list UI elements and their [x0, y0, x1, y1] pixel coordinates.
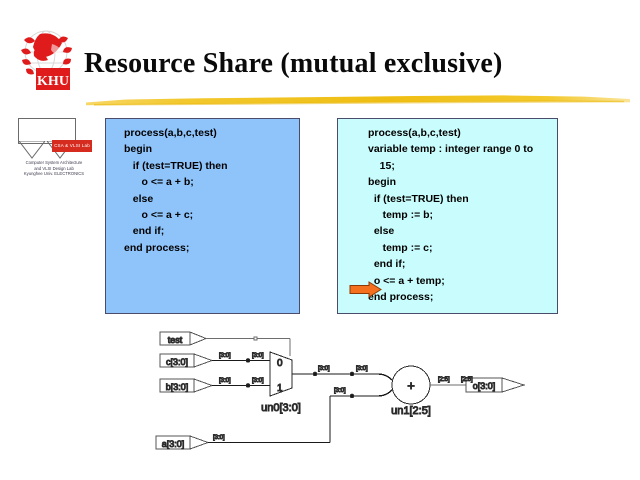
- highlight-arrow: [349, 281, 382, 298]
- code-line: end process;: [124, 240, 228, 256]
- rtl-schematic: test c[3:0] [3:0] [3:0]: [0, 326, 640, 466]
- schematic-mux-port-1: 1: [277, 383, 283, 394]
- code-line: else: [124, 191, 228, 207]
- code-line: if (test=TRUE) then: [124, 158, 228, 174]
- code-line: temp := c;: [368, 240, 533, 256]
- lab-watermark-logo: CSA & VLSI Lab Computer System Architect…: [14, 118, 94, 180]
- code-line: o <= a + c;: [124, 207, 228, 223]
- code-line: 15;: [368, 158, 533, 174]
- khu-logo: KHU: [16, 26, 82, 94]
- code-right-lines: process(a,b,c,test) variable temp : inte…: [368, 125, 533, 305]
- code-block-left: process(a,b,c,test) begin if (test=TRUE)…: [105, 118, 300, 314]
- schematic-label-c: c[3:0]: [166, 357, 188, 367]
- code-line: process(a,b,c,test): [368, 125, 533, 141]
- code-line: else: [368, 223, 533, 239]
- schematic-bus-mux-a: [3:0]: [318, 366, 330, 372]
- code-line: o <= a + b;: [124, 174, 228, 190]
- code-left-lines: process(a,b,c,test) begin if (test=TRUE)…: [124, 125, 228, 256]
- page-title: Resource Share (mutual exclusive): [84, 48, 632, 80]
- code-line: end if;: [368, 256, 533, 272]
- schematic-label-a: a[3:0]: [162, 439, 185, 449]
- schematic-bus-c-a: [3:0]: [219, 353, 231, 359]
- schematic-adder-name: un1[2:5]: [391, 405, 431, 417]
- schematic-pin-a: [156, 390, 392, 449]
- schematic-mux-name: un0[3:0]: [261, 402, 301, 414]
- watermark-caption-line-3: Kyunghee Univ. ELECTRONICS: [14, 171, 94, 177]
- title-underline-rule: [84, 93, 632, 107]
- right-arrow-icon: [349, 281, 382, 298]
- watermark-caption: Computer System Architecture and VLSI De…: [14, 160, 94, 177]
- code-line: end if;: [124, 223, 228, 239]
- schematic-bus-mux-b: [3:0]: [356, 366, 368, 372]
- khu-logo-text: KHU: [37, 74, 69, 89]
- schematic-bus-a-out: [3:0]: [213, 435, 225, 441]
- schematic-net-mux-out: [292, 372, 392, 380]
- code-line: begin: [124, 141, 228, 157]
- watermark-caption-line-1: Computer System Architecture: [14, 160, 94, 166]
- code-line: process(a,b,c,test): [124, 125, 228, 141]
- schematic-bus-b-b: [3:0]: [252, 378, 264, 384]
- code-line: end process;: [368, 289, 533, 305]
- code-line: if (test=TRUE) then: [368, 191, 533, 207]
- slide-canvas: KHU Resource Share (mutual exclusive): [0, 0, 640, 480]
- schematic-bus-b-a: [3:0]: [219, 378, 231, 384]
- schematic-bus-lower: [3:0]: [334, 388, 346, 394]
- schematic-bus-c-b: [3:0]: [252, 353, 264, 359]
- khu-logo-icon: KHU: [16, 26, 82, 94]
- schematic-svg: test c[3:0] [3:0] [3:0]: [0, 326, 640, 466]
- code-line-highlighted: o <= a + temp;: [368, 273, 533, 289]
- schematic-bus-sum-b: [2:5]: [461, 377, 473, 383]
- schematic-label-b: b[3:0]: [166, 382, 189, 392]
- schematic-bus-sum-a: [2:5]: [438, 377, 450, 383]
- brush-stroke-icon: [84, 93, 632, 107]
- watermark-badge: CSA & VLSI Lab: [52, 140, 92, 152]
- schematic-mux-port-0: 0: [277, 358, 283, 369]
- code-line: variable temp : integer range 0 to: [368, 141, 533, 157]
- schematic-label-o: o[3:0]: [473, 381, 496, 391]
- code-line: begin: [368, 174, 533, 190]
- code-line: temp := b;: [368, 207, 533, 223]
- schematic-label-test: test: [168, 335, 183, 345]
- schematic-adder-symbol: +: [407, 378, 415, 393]
